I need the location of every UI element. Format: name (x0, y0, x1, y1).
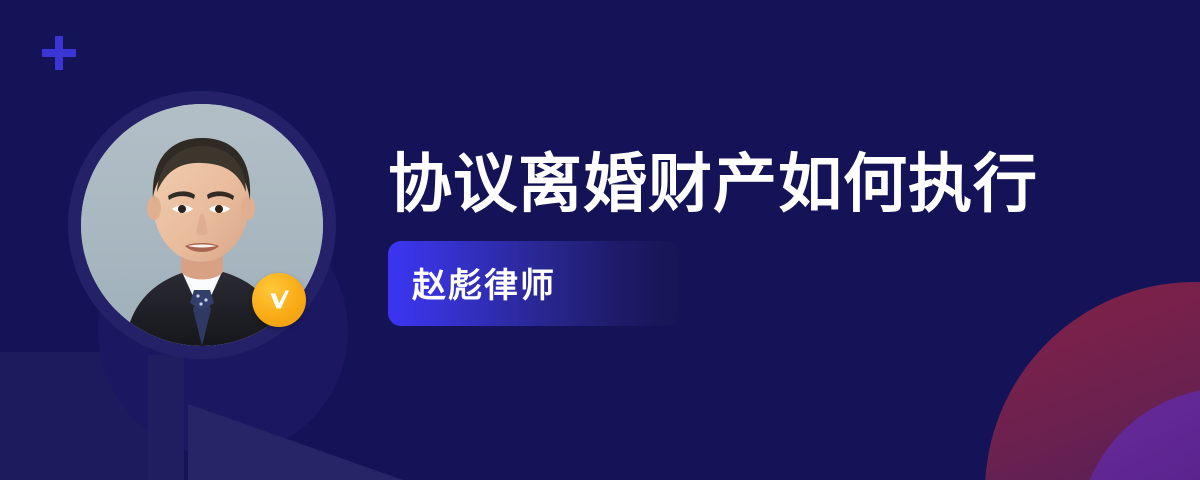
plus-icon (42, 36, 76, 70)
avatar[interactable] (68, 91, 336, 359)
banner-content: 协议离婚财产如何执行 赵彪律师 (388, 150, 1148, 326)
decorative-triangle (188, 404, 403, 480)
verified-badge-icon (252, 273, 306, 327)
promo-banner: 协议离婚财产如何执行 赵彪律师 (0, 0, 1200, 480)
page-title: 协议离婚财产如何执行 (388, 150, 1148, 219)
decorative-band (148, 355, 184, 480)
lawyer-name-button[interactable]: 赵彪律师 (388, 241, 678, 326)
